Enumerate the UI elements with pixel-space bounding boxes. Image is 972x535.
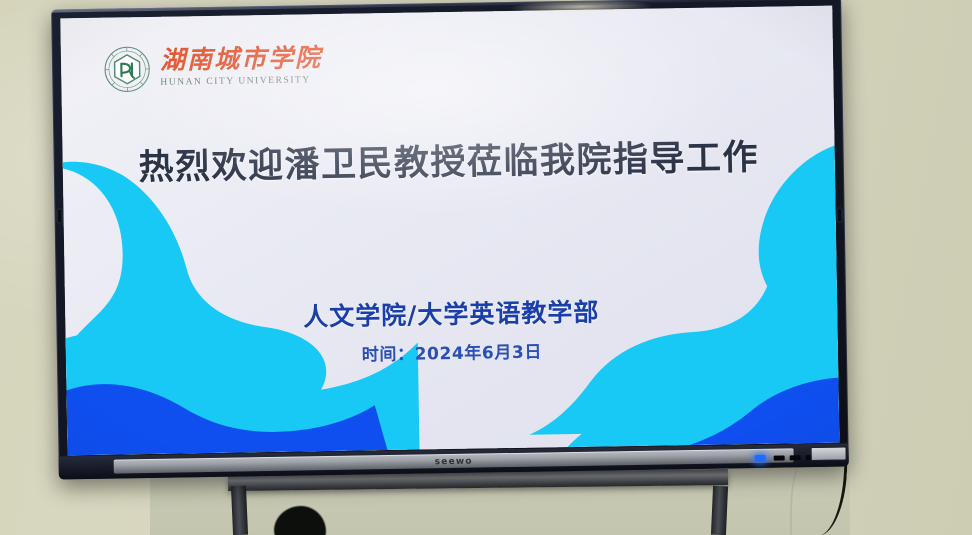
logo-chinese-name: 湖南城市学院 <box>160 46 322 74</box>
photo-scene: 湖南城市学院 HUNAN CITY UNIVERSITY 热烈欢迎潘卫民教授莅临… <box>0 0 972 535</box>
port-vent-slot <box>790 455 801 460</box>
display-stand-right-leg <box>711 486 728 535</box>
logo-english-name: HUNAN CITY UNIVERSITY <box>160 76 322 88</box>
port-vent-slot <box>774 455 785 460</box>
display-stand-left-leg <box>231 486 248 535</box>
interactive-flat-panel-display[interactable]: 湖南城市学院 HUNAN CITY UNIVERSITY 热烈欢迎潘卫民教授莅临… <box>51 0 849 480</box>
right-sensor-icon <box>838 209 842 222</box>
university-logo: 湖南城市学院 HUNAN CITY UNIVERSITY <box>103 42 323 94</box>
left-sensor-icon <box>57 209 61 222</box>
power-led-indicator <box>755 455 766 462</box>
presentation-screen[interactable]: 湖南城市学院 HUNAN CITY UNIVERSITY 热烈欢迎潘卫民教授莅临… <box>60 6 839 456</box>
usb-port-block[interactable] <box>811 446 847 461</box>
hunan-city-university-emblem-icon <box>103 45 152 94</box>
